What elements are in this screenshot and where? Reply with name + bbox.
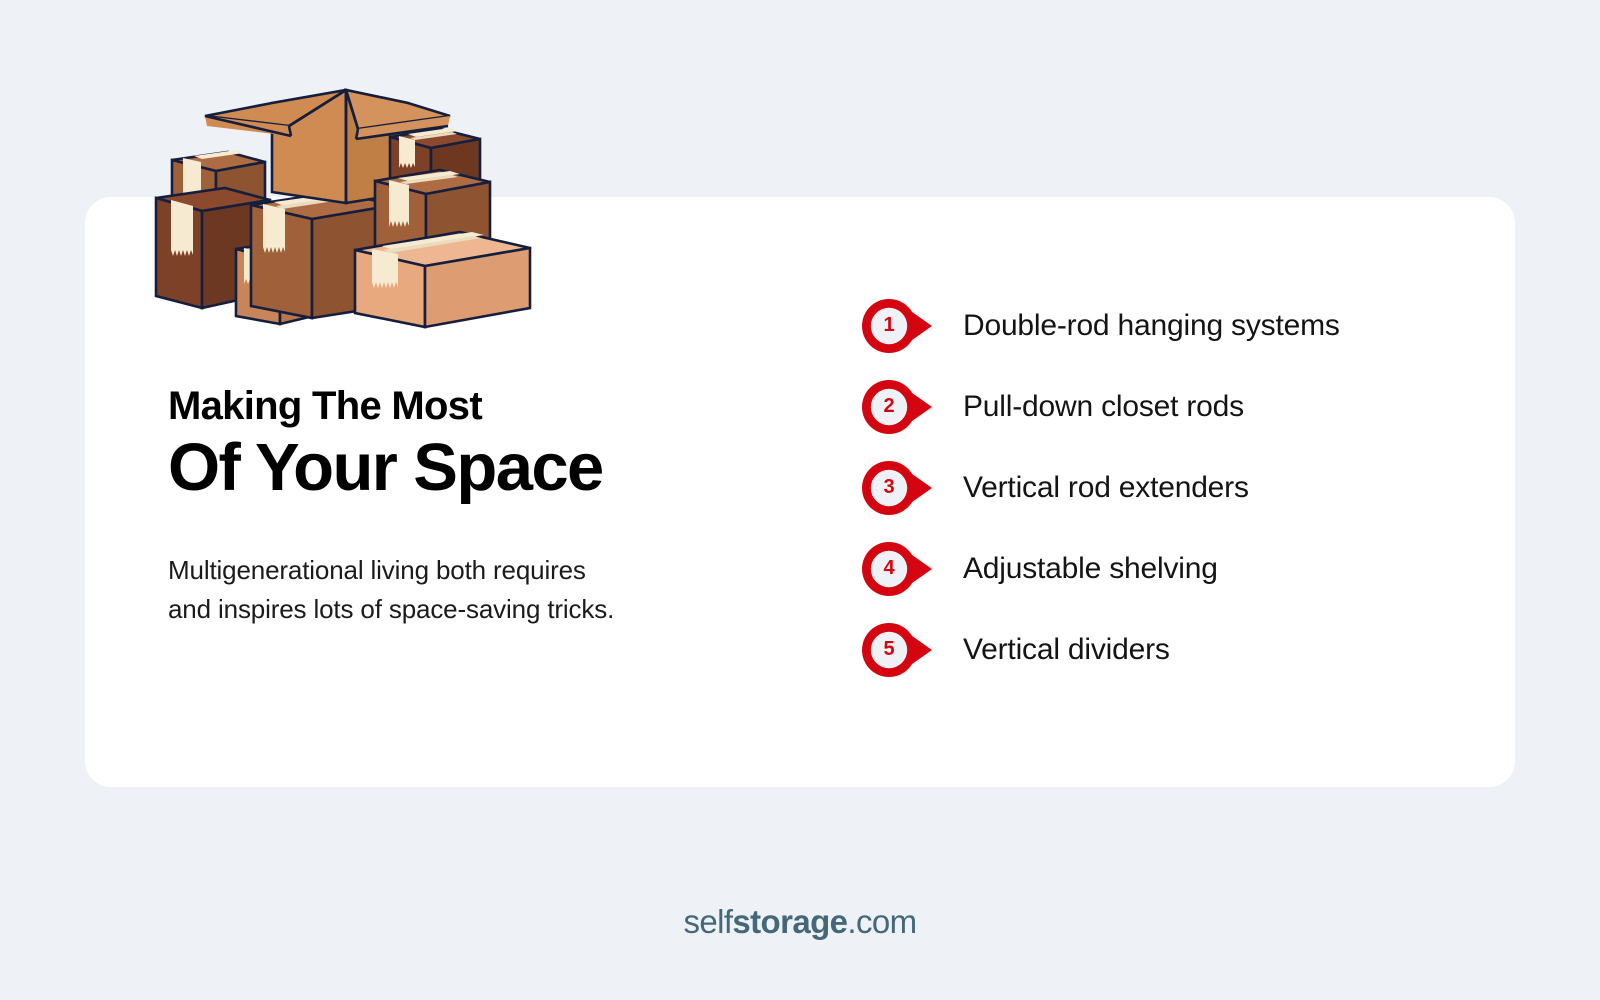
pin-marker-icon: 2 bbox=[862, 380, 934, 434]
tips-list: 1 Double-rod hanging systems 2 Pull-down… bbox=[862, 299, 1482, 677]
headline-eyebrow: Making The Most bbox=[168, 385, 728, 428]
pin-number: 1 bbox=[862, 299, 916, 353]
pin-number: 3 bbox=[862, 461, 916, 515]
logo-text-self: self bbox=[683, 903, 732, 940]
cardboard-boxes-illustration bbox=[150, 50, 600, 340]
list-item-label: Vertical dividers bbox=[963, 633, 1170, 667]
list-item-label: Vertical rod extenders bbox=[963, 471, 1249, 505]
selfstorage-logo: selfstorage.com bbox=[0, 903, 1600, 941]
list-item-label: Pull-down closet rods bbox=[963, 390, 1244, 424]
logo-text-dotcom: .com bbox=[847, 903, 916, 940]
headline-block: Making The Most Of Your Space Multigener… bbox=[168, 385, 728, 630]
headline-subcopy: Multigenerational living both requires a… bbox=[168, 551, 728, 630]
pin-number: 4 bbox=[862, 542, 916, 596]
pin-marker-icon: 1 bbox=[862, 299, 934, 353]
list-item: 4 Adjustable shelving bbox=[862, 542, 1482, 596]
list-item: 1 Double-rod hanging systems bbox=[862, 299, 1482, 353]
pin-marker-icon: 3 bbox=[862, 461, 934, 515]
list-item-label: Adjustable shelving bbox=[963, 552, 1218, 586]
pin-marker-icon: 5 bbox=[862, 623, 934, 677]
pin-marker-icon: 4 bbox=[862, 542, 934, 596]
logo-text-storage: storage bbox=[732, 903, 847, 940]
list-item-label: Double-rod hanging systems bbox=[963, 309, 1340, 343]
list-item: 5 Vertical dividers bbox=[862, 623, 1482, 677]
pin-number: 2 bbox=[862, 380, 916, 434]
page-title: Of Your Space bbox=[168, 432, 728, 504]
pin-number: 5 bbox=[862, 623, 916, 677]
list-item: 2 Pull-down closet rods bbox=[862, 380, 1482, 434]
list-item: 3 Vertical rod extenders bbox=[862, 461, 1482, 515]
